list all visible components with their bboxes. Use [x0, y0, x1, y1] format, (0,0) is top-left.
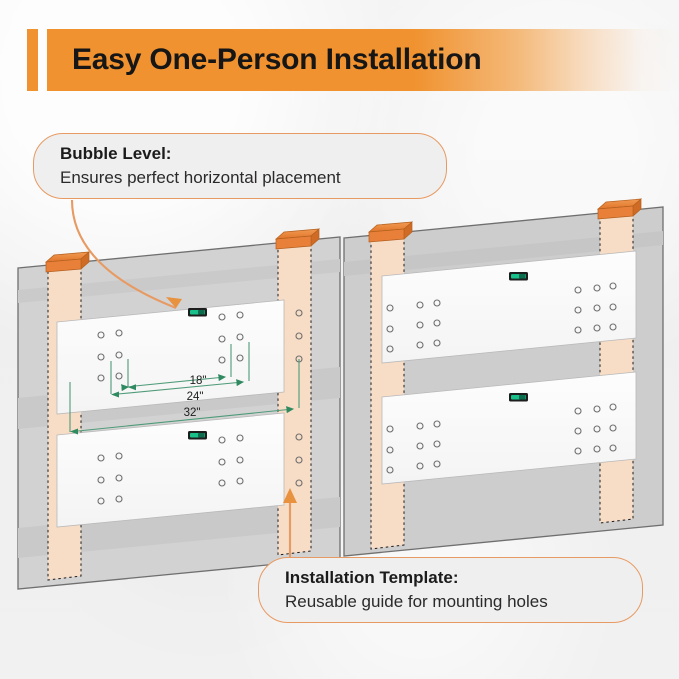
bubble-level-left-top	[188, 308, 207, 317]
dimension-label-32: 32"	[184, 407, 201, 419]
bubble-level-left-bottom	[188, 431, 207, 440]
header-accent-bar	[27, 29, 38, 91]
callout-bubble-level-description: Ensures perfect horizontal placement	[60, 166, 424, 190]
callout-installation-template-title: Installation Template:	[285, 567, 620, 590]
bubble-level-right-top	[509, 272, 528, 281]
callout-installation-template-description: Reusable guide for mounting holes	[285, 590, 620, 614]
page-title: Easy One-Person Installation	[72, 29, 482, 91]
dimension-label-18: 18"	[190, 375, 207, 387]
bubble-level-right-bottom	[509, 393, 528, 402]
header: Easy One-Person Installation	[0, 29, 679, 91]
page-root: 18" 24" 32" Easy One-Person Installation…	[0, 0, 679, 679]
dimension-label-24: 24"	[187, 391, 204, 403]
callout-bubble-level-title: Bubble Level:	[60, 143, 424, 166]
callout-installation-template: Installation Template: Reusable guide fo…	[258, 557, 643, 623]
callout-bubble-level: Bubble Level: Ensures perfect horizontal…	[33, 133, 447, 199]
